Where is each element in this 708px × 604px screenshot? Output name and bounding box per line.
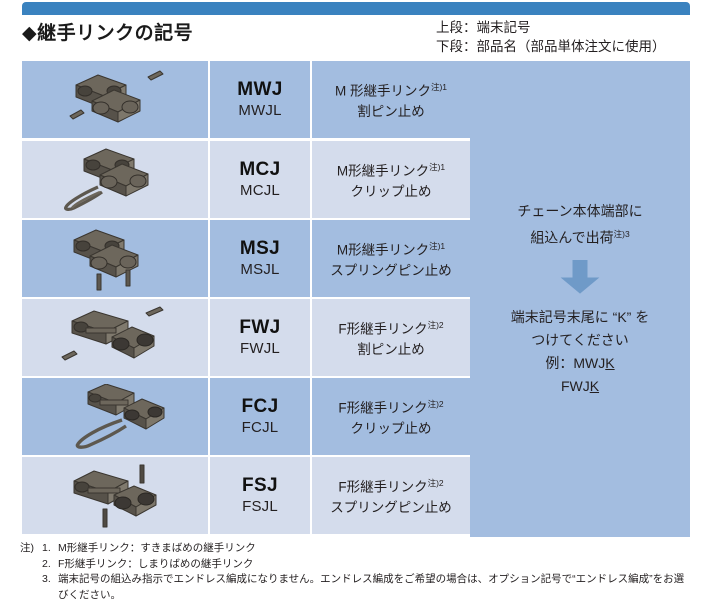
- table-row: MSJ MSJL M形継手リンク注)1 スプリングピン止め: [22, 220, 470, 297]
- footnote-text: M形継手リンク：すきまばめの継手リンク: [58, 541, 700, 557]
- footnotes: 注) 1. M形継手リンク：すきまばめの継手リンク 2. F形継手リンク：しまり…: [20, 541, 700, 603]
- part-name-code: FWJL: [240, 339, 280, 359]
- description-cell: F形継手リンク注)2 クリップ止め: [312, 378, 470, 455]
- description-line-1: F形継手リンク注)2: [338, 394, 443, 419]
- description-line-1: M 形継手リンク注)1: [335, 77, 447, 102]
- panel-example-line-1: 例：MWJK: [511, 352, 649, 375]
- panel-top-line-2: 組込んで出荷注)3: [517, 223, 642, 250]
- description-cell: M形継手リンク注)1 スプリングピン止め: [312, 220, 470, 297]
- panel-top-text: チェーン本体端部に 組込んで出荷注)3: [517, 200, 642, 250]
- panel-bottom-line-2: つけてください: [511, 329, 649, 352]
- down-arrow-icon: [560, 260, 600, 294]
- footnote-lead-spacer: [20, 557, 42, 573]
- code-cell: MCJ MCJL: [210, 141, 310, 218]
- footnote-text: F形継手リンク：しまりばめの継手リンク: [58, 557, 700, 573]
- chain-link-image-cell: [22, 220, 208, 297]
- footnote-lead: 注): [20, 541, 42, 557]
- footnote-ref: 注)2: [428, 478, 444, 488]
- chain-link-image-cell: [22, 299, 208, 376]
- table-row: FWJ FWJL F形継手リンク注)2 割ピン止め: [22, 299, 470, 376]
- shipping-note-panel: チェーン本体端部に 組込んで出荷注)3 端末記号末尾に “K” を つけてくださ…: [470, 61, 690, 537]
- footnote-ref: 注)2: [428, 399, 444, 409]
- footnote-item: 2. F形継手リンク：しまりばめの継手リンク: [20, 557, 700, 573]
- table-rows: MWJ MWJL M 形継手リンク注)1 割ピン止め: [22, 61, 470, 537]
- table-row: FCJ FCJL F形継手リンク注)2 クリップ止め: [22, 378, 470, 455]
- chain-link-image-cell: [22, 141, 208, 218]
- table-row: FSJ FSJL F形継手リンク注)2 スプリングピン止め: [22, 457, 470, 534]
- terminal-symbol: MWJ: [237, 78, 283, 101]
- part-name-code: FSJL: [242, 497, 278, 517]
- description-cell: F形継手リンク注)2 割ピン止め: [312, 299, 470, 376]
- description-cell: F形継手リンク注)2 スプリングピン止め: [312, 457, 470, 534]
- description-line-2: クリップ止め: [351, 418, 432, 439]
- legend-line-1: 上段：端末記号: [436, 18, 666, 37]
- description-line-1: M形継手リンク注)1: [337, 157, 445, 182]
- legend-line-2: 下段：部品名（部品単体注文に使用）: [436, 37, 666, 56]
- chain-link-image-cell: [22, 457, 208, 534]
- table-row: MWJ MWJL M 形継手リンク注)1 割ピン止め: [22, 61, 470, 138]
- footnote-number: 2.: [42, 557, 58, 573]
- code-cell: MWJ MWJL: [210, 61, 310, 138]
- footnote-continuation: びください。: [58, 588, 700, 604]
- page-header: ◆継手リンクの記号 上段：端末記号 下段：部品名（部品単体注文に使用）: [0, 17, 708, 57]
- panel-bottom-text: 端末記号末尾に “K” を つけてください 例：MWJK FWJK: [511, 306, 649, 398]
- description-cell: M形継手リンク注)1 クリップ止め: [312, 141, 470, 218]
- footnote-item: 3. 端末記号の組込み指示でエンドレス編成になりません。エンドレス編成をご希望の…: [20, 572, 700, 588]
- code-cell: FWJ FWJL: [210, 299, 310, 376]
- table-row: MCJ MCJL M形継手リンク注)1 クリップ止め: [22, 141, 470, 218]
- part-name-code: FCJL: [242, 418, 279, 438]
- code-cell: FSJ FSJL: [210, 457, 310, 534]
- description-line-2: 割ピン止め: [357, 101, 425, 122]
- description-line-2: クリップ止め: [351, 181, 432, 202]
- part-name-code: MCJL: [240, 181, 280, 201]
- description-cell: M 形継手リンク注)1 割ピン止め: [312, 61, 470, 138]
- panel-bottom-line-1: 端末記号末尾に “K” を: [511, 306, 649, 329]
- code-cell: MSJ MSJL: [210, 220, 310, 297]
- page-title: ◆継手リンクの記号: [22, 18, 193, 45]
- terminal-symbol: FCJ: [241, 395, 278, 418]
- footnote-lead-spacer: [20, 572, 42, 588]
- chain-link-image-cell: [22, 378, 208, 455]
- terminal-symbol: MCJ: [239, 158, 280, 181]
- top-accent-bar: [22, 2, 690, 15]
- footnote-number: 1.: [42, 541, 58, 557]
- footnote-item: 注) 1. M形継手リンク：すきまばめの継手リンク: [20, 541, 700, 557]
- terminal-symbol: MSJ: [240, 237, 280, 260]
- code-cell: FCJ FCJL: [210, 378, 310, 455]
- footnote-ref: 注)1: [429, 162, 445, 172]
- chain-link-fcj-clip-icon: [40, 384, 190, 450]
- chain-link-mwj-cotter-pin-icon: [40, 67, 190, 133]
- description-line-1: M形継手リンク注)1: [337, 236, 445, 261]
- description-line-1: F形継手リンク注)2: [338, 473, 443, 498]
- panel-top-line-1: チェーン本体端部に: [517, 200, 642, 223]
- footnote-ref: 注)3: [614, 229, 630, 239]
- chain-link-msj-spring-pin-icon: [40, 226, 190, 292]
- description-line-1: F形継手リンク注)2: [338, 315, 443, 340]
- chain-link-fsj-spring-pin-icon: [40, 463, 190, 529]
- chain-link-mcj-clip-icon: [40, 147, 190, 213]
- description-line-2: スプリングピン止め: [330, 260, 452, 281]
- terminal-symbol: FWJ: [239, 316, 280, 339]
- description-line-2: スプリングピン止め: [330, 497, 452, 518]
- footnote-number: 3.: [42, 572, 58, 588]
- chain-link-image-cell: [22, 61, 208, 138]
- description-line-2: 割ピン止め: [357, 339, 425, 360]
- joint-link-symbol-table: MWJ MWJL M 形継手リンク注)1 割ピン止め: [22, 61, 690, 537]
- header-legend: 上段：端末記号 下段：部品名（部品単体注文に使用）: [436, 18, 666, 56]
- footnote-ref: 注)1: [429, 241, 445, 251]
- footnote-text: 端末記号の組込み指示でエンドレス編成になりません。エンドレス編成をご希望の場合は…: [58, 572, 700, 588]
- part-name-code: MWJL: [238, 101, 281, 121]
- chain-link-fwj-cotter-pin-icon: [40, 305, 190, 371]
- footnote-ref: 注)2: [428, 320, 444, 330]
- part-name-code: MSJL: [240, 260, 279, 280]
- panel-example-line-2: FWJK: [511, 375, 649, 398]
- terminal-symbol: FSJ: [242, 474, 278, 497]
- footnote-ref: 注)1: [431, 82, 447, 92]
